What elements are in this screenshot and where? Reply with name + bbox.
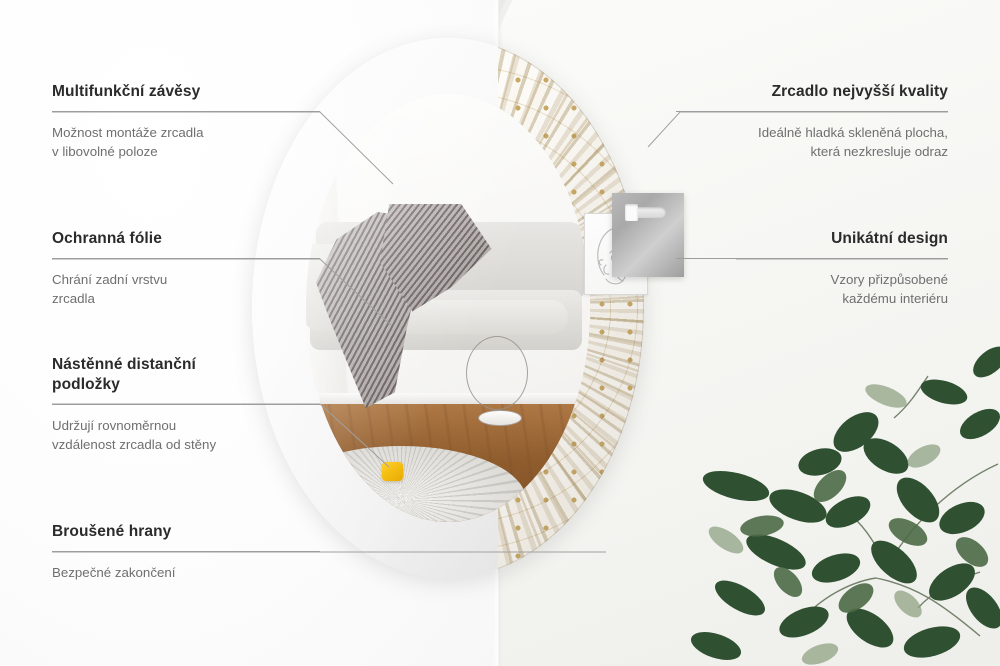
- callout-title: Ochranná fólie: [52, 229, 320, 249]
- infographic-canvas: Multifunkční závěsy Možnost montáže zrca…: [0, 0, 1000, 666]
- callout-divider: [676, 258, 948, 259]
- callout-title: Broušené hrany: [52, 522, 320, 542]
- callout-divider: [52, 258, 320, 259]
- callout-divider: [52, 111, 320, 112]
- callout-divider: [52, 404, 320, 405]
- callout-body-line1: Vzory přizpůsobené: [830, 272, 948, 287]
- callout-body: Chrání zadní vrstvu zrcadla: [52, 270, 320, 309]
- yellow-spacer-pad: [382, 462, 403, 481]
- callout-body-line2: která nezkresluje odraz: [811, 144, 948, 159]
- callout-body-line2: každému interiéru: [842, 291, 948, 306]
- callout-protective-foil: Ochranná fólie Chrání zadní vrstvu zrcad…: [52, 229, 320, 308]
- callout-title: Nástěnné distanční podložky: [52, 355, 320, 395]
- multifunctional-hanger-plate: [612, 193, 684, 277]
- callout-body: Vzory přizpůsobené každému interiéru: [676, 270, 948, 309]
- callout-body-line1: Chrání zadní vrstvu: [52, 272, 167, 287]
- callout-polished-edges: Broušené hrany Bezpečné zakončení: [52, 522, 320, 582]
- callout-body-line1: Ideálně hladká skleněná plocha,: [758, 125, 948, 140]
- callout-body: Udržují rovnoměrnou vzdálenost zrcadla o…: [52, 416, 320, 455]
- glass-gloss-highlight: [306, 94, 590, 522]
- callout-unique-design: Unikátní design Vzory přizpůsobené každé…: [676, 229, 948, 308]
- callout-body: Možnost montáže zrcadla v libovolné polo…: [52, 123, 320, 162]
- mirror-glass: [306, 94, 590, 522]
- callout-body-line2: vzdálenost zrcadla od stěny: [52, 437, 216, 452]
- keyhole-slot: [626, 207, 666, 218]
- callout-divider: [52, 551, 320, 552]
- callout-body-line1: Možnost montáže zrcadla: [52, 125, 204, 140]
- callout-body: Bezpečné zakončení: [52, 563, 320, 582]
- callout-title: Zrcadlo nejvyšší kvality: [676, 82, 948, 102]
- callout-body-line1: Udržují rovnoměrnou: [52, 418, 176, 433]
- leaf-foliage-decoration: [680, 336, 1000, 666]
- callout-title-line2: podložky: [52, 376, 120, 393]
- callout-highest-quality-mirror: Zrcadlo nejvyšší kvality Ideálně hladká …: [676, 82, 948, 161]
- callout-divider: [676, 111, 948, 112]
- callout-title-line1: Nástěnné distanční: [52, 356, 196, 373]
- callout-title: Multifunkční závěsy: [52, 82, 320, 102]
- callout-body: Ideálně hladká skleněná plocha, která ne…: [676, 123, 948, 162]
- callout-body-line2: v libovolné poloze: [52, 144, 158, 159]
- callout-title: Unikátní design: [676, 229, 948, 249]
- callout-body-line2: zrcadla: [52, 291, 95, 306]
- callout-multifunctional-hangers: Multifunkční závěsy Možnost montáže zrca…: [52, 82, 320, 161]
- callout-wall-spacers: Nástěnné distanční podložky Udržují rovn…: [52, 355, 320, 454]
